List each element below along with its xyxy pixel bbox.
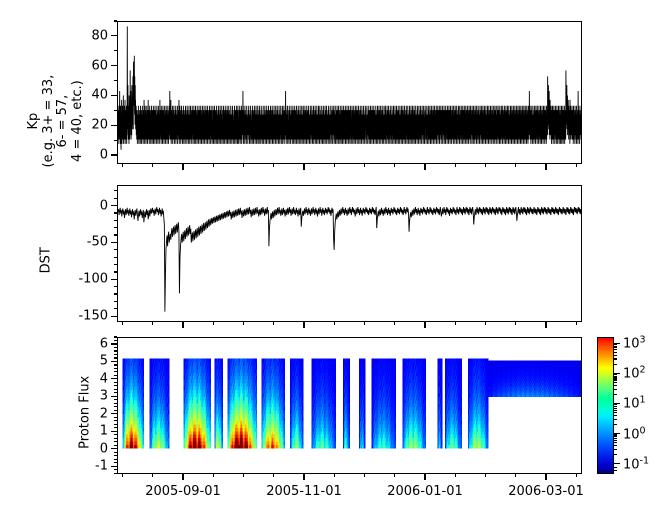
y-minor-tick: [114, 459, 117, 460]
y-major-tick: [111, 125, 117, 126]
y-minor-tick: [114, 389, 117, 390]
y-minor-tick: [114, 20, 117, 21]
y-minor-tick: [114, 434, 117, 435]
y-minor-tick: [114, 350, 117, 351]
colorbar-minor-tick: [614, 415, 617, 416]
y-minor-tick: [114, 301, 117, 302]
x-major-tick: [182, 474, 183, 480]
x-minor-tick: [576, 474, 577, 477]
x-minor-tick: [122, 164, 123, 167]
y-minor-tick: [114, 249, 117, 250]
y-minor-tick: [114, 227, 117, 228]
x-tick-label: 2005-11-01: [266, 484, 342, 499]
x-minor-tick: [515, 164, 516, 167]
x-minor-tick: [213, 474, 214, 477]
kp-axis-title-line-3: 6- = 57,: [56, 41, 71, 201]
y-tick-label: -150: [74, 309, 108, 324]
colorbar-minor-tick: [614, 467, 617, 468]
colorbar-minor-tick: [614, 436, 617, 437]
y-minor-tick: [114, 80, 117, 81]
y-major-tick: [111, 65, 117, 66]
colorbar-minor-tick: [614, 349, 617, 350]
y-minor-tick: [114, 50, 117, 51]
dst-series: [118, 186, 581, 321]
x-major-tick: [303, 164, 304, 170]
x-minor-tick: [485, 322, 486, 325]
y-major-tick: [111, 466, 117, 467]
x-minor-tick: [455, 474, 456, 477]
colorbar-minor-tick: [614, 440, 617, 441]
y-minor-tick: [114, 371, 117, 372]
y-tick-label: 80: [86, 28, 108, 43]
colorbar-minor-tick: [614, 404, 617, 405]
colorbar-minor-tick: [614, 434, 617, 435]
y-major-tick: [111, 154, 117, 155]
colorbar-minor-tick: [614, 379, 617, 380]
x-minor-tick: [455, 322, 456, 325]
x-major-tick: [424, 322, 425, 328]
colorbar-label-exponent: -1: [640, 455, 649, 466]
colorbar-minor-tick: [614, 445, 617, 446]
y-major-tick: [111, 279, 117, 280]
colorbar-label-exponent: 1: [640, 395, 646, 406]
y-minor-tick: [114, 308, 117, 309]
y-minor-tick: [114, 385, 117, 386]
x-minor-tick: [334, 322, 335, 325]
proton-flux-spectrogram: [118, 338, 581, 473]
y-major-tick: [111, 396, 117, 397]
proton-flux-panel: [117, 337, 582, 474]
colorbar-minor-tick: [614, 377, 617, 378]
y-minor-tick: [114, 403, 117, 404]
colorbar-gradient: [598, 338, 613, 473]
y-major-tick: [111, 431, 117, 432]
colorbar-tick-label: 100: [623, 425, 646, 442]
colorbar-label-mantissa: 10: [623, 427, 640, 442]
y-minor-tick: [114, 198, 117, 199]
x-major-tick: [545, 474, 546, 480]
y-minor-tick: [114, 410, 117, 411]
y-minor-tick: [114, 473, 117, 474]
y-minor-tick: [114, 375, 117, 376]
kp-axis-title-line-1: Kp: [27, 41, 42, 201]
colorbar-minor-tick: [614, 410, 617, 411]
colorbar-minor-tick: [614, 355, 617, 356]
colorbar-minor-tick: [614, 346, 617, 347]
y-minor-tick: [114, 364, 117, 365]
colorbar-minor-tick: [614, 364, 617, 365]
y-minor-tick: [114, 110, 117, 111]
y-minor-tick: [114, 340, 117, 341]
colorbar-minor-tick: [614, 406, 617, 407]
colorbar-tick-label: 102: [623, 365, 646, 382]
kp-axis-title-line-4: 4 = 40, etc.): [71, 41, 86, 201]
y-major-tick: [111, 413, 117, 414]
y-minor-tick: [114, 354, 117, 355]
y-tick-label: 0: [86, 148, 108, 163]
colorbar-minor-tick: [614, 438, 617, 439]
spectrogram-column-group: [227, 359, 257, 449]
spectrogram-column-group: [488, 361, 581, 397]
x-minor-tick: [152, 164, 153, 167]
colorbar-label-mantissa: 10: [623, 337, 640, 352]
x-major-tick: [424, 474, 425, 480]
colorbar-minor-tick: [614, 358, 617, 359]
figure-canvas: 020406080 Kp (e.g. 3+ = 33, 6- = 57, 4 =…: [0, 0, 665, 523]
colorbar-minor-tick: [614, 344, 617, 345]
x-minor-tick: [394, 322, 395, 325]
kp-axis-title: Kp (e.g. 3+ = 33, 6- = 57, 4 = 40, etc.): [27, 41, 85, 201]
y-major-tick: [111, 95, 117, 96]
colorbar-tick-label: 10-1: [623, 455, 649, 472]
y-minor-tick: [114, 424, 117, 425]
x-minor-tick: [122, 322, 123, 325]
y-tick-label: 6: [90, 336, 108, 351]
x-minor-tick: [213, 322, 214, 325]
colorbar-minor-tick: [614, 347, 617, 348]
y-minor-tick: [114, 417, 117, 418]
spectrogram-column-group: [343, 359, 350, 449]
x-minor-tick: [576, 164, 577, 167]
y-tick-label: 20: [86, 118, 108, 133]
y-tick-label: -100: [74, 272, 108, 287]
spectrogram-column-group: [468, 359, 489, 449]
spectrogram-column-group: [312, 359, 336, 449]
y-major-tick: [111, 205, 117, 206]
colorbar-minor-tick: [614, 385, 617, 386]
colorbar-minor-tick: [614, 374, 617, 375]
y-major-tick: [111, 448, 117, 449]
spectrogram-column-group: [437, 359, 442, 449]
spectrogram-column-group: [149, 359, 169, 449]
kp-axis-title-line-2: (e.g. 3+ = 33,: [41, 41, 56, 201]
x-major-tick: [545, 322, 546, 328]
y-minor-tick: [114, 427, 117, 428]
y-minor-tick: [114, 140, 117, 141]
x-tick-label: 2006-03-01: [508, 484, 584, 499]
spectrogram-column-group: [372, 359, 396, 449]
x-minor-tick: [485, 474, 486, 477]
x-major-tick: [303, 322, 304, 328]
y-minor-tick: [114, 452, 117, 453]
colorbar-minor-tick: [614, 352, 617, 353]
y-major-tick: [111, 242, 117, 243]
series-path: [118, 26, 581, 149]
x-minor-tick: [273, 474, 274, 477]
colorbar-label-mantissa: 10: [623, 457, 640, 472]
x-minor-tick: [152, 474, 153, 477]
series-path: [118, 207, 581, 312]
x-tick-label: 2005-09-01: [145, 484, 221, 499]
colorbar: [597, 337, 614, 474]
y-major-tick: [111, 343, 117, 344]
x-minor-tick: [515, 322, 516, 325]
colorbar-tick-label: 101: [623, 395, 646, 412]
y-minor-tick: [114, 190, 117, 191]
x-major-tick: [182, 322, 183, 328]
y-minor-tick: [114, 382, 117, 383]
y-minor-tick: [114, 271, 117, 272]
y-major-tick: [111, 316, 117, 317]
x-minor-tick: [364, 164, 365, 167]
y-tick-label: 60: [86, 58, 108, 73]
y-tick-label: -50: [74, 235, 108, 250]
x-major-tick: [424, 164, 425, 170]
proton-flux-axis-title: Proton Flux: [79, 357, 94, 467]
colorbar-minor-tick: [614, 470, 617, 471]
spectrogram-column-group: [445, 359, 462, 449]
y-minor-tick: [114, 220, 117, 221]
colorbar-minor-tick: [614, 389, 617, 390]
colorbar-minor-tick: [614, 449, 617, 450]
x-tick-label: 2006-01-01: [387, 484, 463, 499]
dst-panel: [117, 185, 582, 322]
colorbar-tick-label: 103: [623, 334, 646, 351]
spectrogram-column-group: [123, 359, 144, 449]
x-major-tick: [182, 164, 183, 170]
colorbar-minor-tick: [614, 419, 617, 420]
kp-panel: [117, 21, 582, 164]
y-minor-tick: [114, 293, 117, 294]
colorbar-minor-tick: [614, 442, 617, 443]
colorbar-minor-tick: [614, 412, 617, 413]
y-minor-tick: [114, 455, 117, 456]
colorbar-minor-tick: [614, 424, 617, 425]
x-minor-tick: [122, 474, 123, 477]
spectrogram-column-group: [290, 359, 303, 449]
x-major-tick: [303, 474, 304, 480]
colorbar-label-exponent: 2: [640, 365, 646, 376]
x-minor-tick: [213, 164, 214, 167]
dst-axis-title: DST: [40, 230, 55, 290]
y-minor-tick: [114, 234, 117, 235]
y-tick-label: 0: [74, 198, 108, 213]
y-minor-tick: [114, 286, 117, 287]
colorbar-minor-tick: [614, 454, 617, 455]
y-minor-tick: [114, 462, 117, 463]
x-minor-tick: [364, 474, 365, 477]
colorbar-minor-tick: [614, 408, 617, 409]
x-minor-tick: [273, 322, 274, 325]
y-minor-tick: [114, 469, 117, 470]
colorbar-minor-tick: [614, 376, 617, 377]
kp-series: [118, 22, 581, 163]
colorbar-minor-tick: [614, 382, 617, 383]
x-minor-tick: [515, 474, 516, 477]
x-minor-tick: [334, 164, 335, 167]
y-minor-tick: [114, 445, 117, 446]
y-tick-label: 40: [86, 88, 108, 103]
colorbar-minor-tick: [614, 394, 617, 395]
spectrogram-column-group: [184, 359, 211, 449]
spectrogram-column-group: [402, 359, 425, 449]
y-minor-tick: [114, 264, 117, 265]
y-major-tick: [111, 361, 117, 362]
y-minor-tick: [114, 399, 117, 400]
x-minor-tick: [394, 164, 395, 167]
spectrogram-column-group: [214, 359, 223, 449]
x-minor-tick: [243, 322, 244, 325]
y-minor-tick: [114, 257, 117, 258]
x-minor-tick: [273, 164, 274, 167]
x-minor-tick: [243, 474, 244, 477]
x-minor-tick: [394, 474, 395, 477]
y-minor-tick: [114, 336, 117, 337]
y-major-tick: [111, 35, 117, 36]
y-major-tick: [111, 378, 117, 379]
x-minor-tick: [576, 322, 577, 325]
x-major-tick: [545, 164, 546, 170]
x-minor-tick: [364, 322, 365, 325]
colorbar-label-mantissa: 10: [623, 397, 640, 412]
spectrogram-column-group: [262, 359, 285, 449]
y-minor-tick: [114, 212, 117, 213]
y-minor-tick: [114, 357, 117, 358]
x-minor-tick: [455, 164, 456, 167]
y-minor-tick: [114, 441, 117, 442]
y-minor-tick: [114, 368, 117, 369]
colorbar-label-mantissa: 10: [623, 367, 640, 382]
colorbar-major-tick: [614, 463, 620, 464]
colorbar-label-exponent: 0: [640, 425, 646, 436]
y-minor-tick: [114, 420, 117, 421]
colorbar-label-exponent: 3: [640, 334, 646, 345]
x-minor-tick: [485, 164, 486, 167]
x-minor-tick: [334, 474, 335, 477]
spectrogram-column-group: [359, 359, 366, 449]
y-minor-tick: [114, 392, 117, 393]
x-minor-tick: [243, 164, 244, 167]
y-minor-tick: [114, 347, 117, 348]
y-minor-tick: [114, 406, 117, 407]
y-minor-tick: [114, 438, 117, 439]
x-minor-tick: [152, 322, 153, 325]
